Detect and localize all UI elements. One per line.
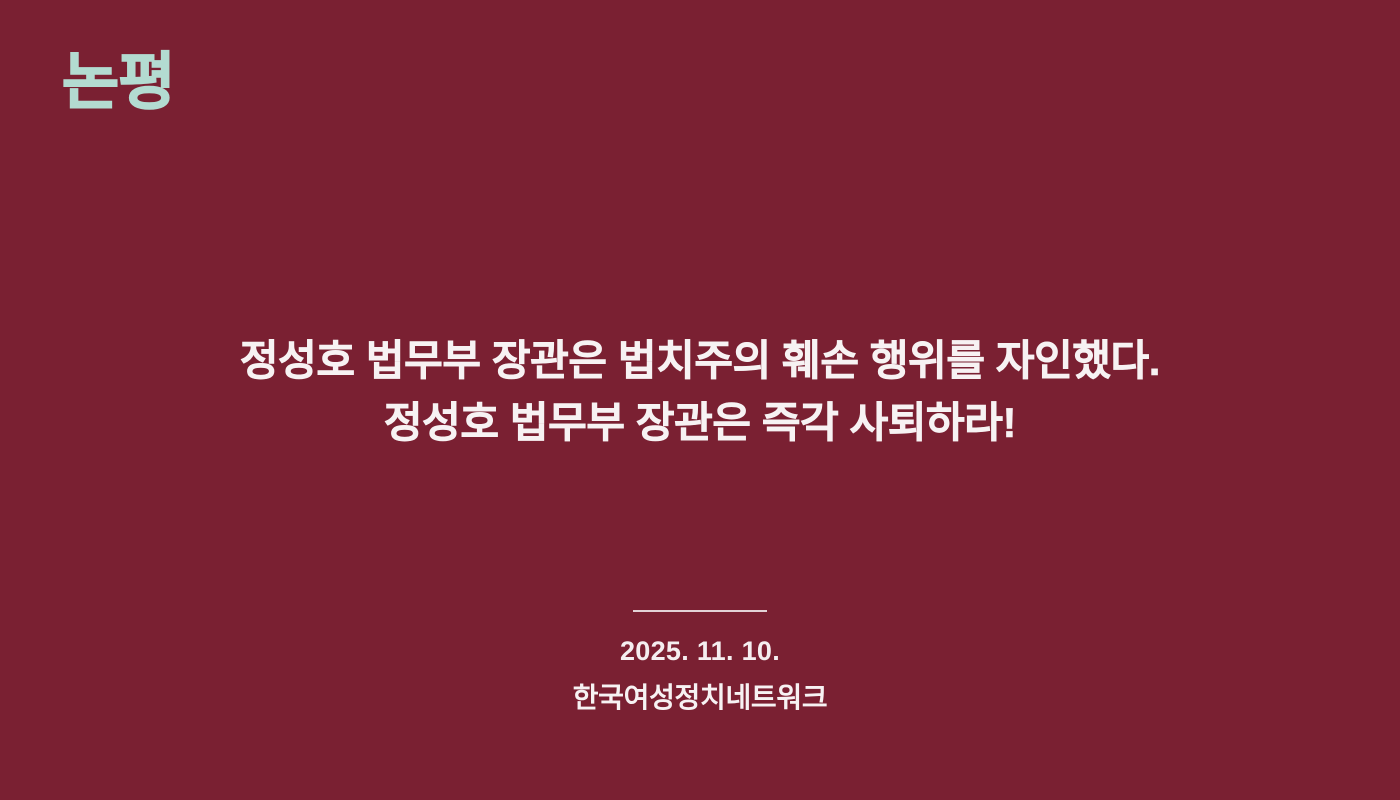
headline-line-1: 정성호 법무부 장관은 법치주의 훼손 행위를 자인했다.: [60, 330, 1340, 392]
footer: 2025. 11. 10. 한국여성정치네트워크: [0, 610, 1400, 716]
statement-poster: 논평 정성호 법무부 장관은 법치주의 훼손 행위를 자인했다. 정성호 법무부…: [0, 0, 1400, 800]
organization-name: 한국여성정치네트워크: [0, 680, 1400, 716]
headline-line-2: 정성호 법무부 장관은 즉각 사퇴하라!: [60, 392, 1340, 454]
footer-divider: [633, 610, 767, 612]
logo-nonpyeong: 논평: [62, 52, 175, 114]
headline: 정성호 법무부 장관은 법치주의 훼손 행위를 자인했다. 정성호 법무부 장관…: [0, 330, 1400, 454]
publication-date: 2025. 11. 10.: [0, 634, 1400, 668]
